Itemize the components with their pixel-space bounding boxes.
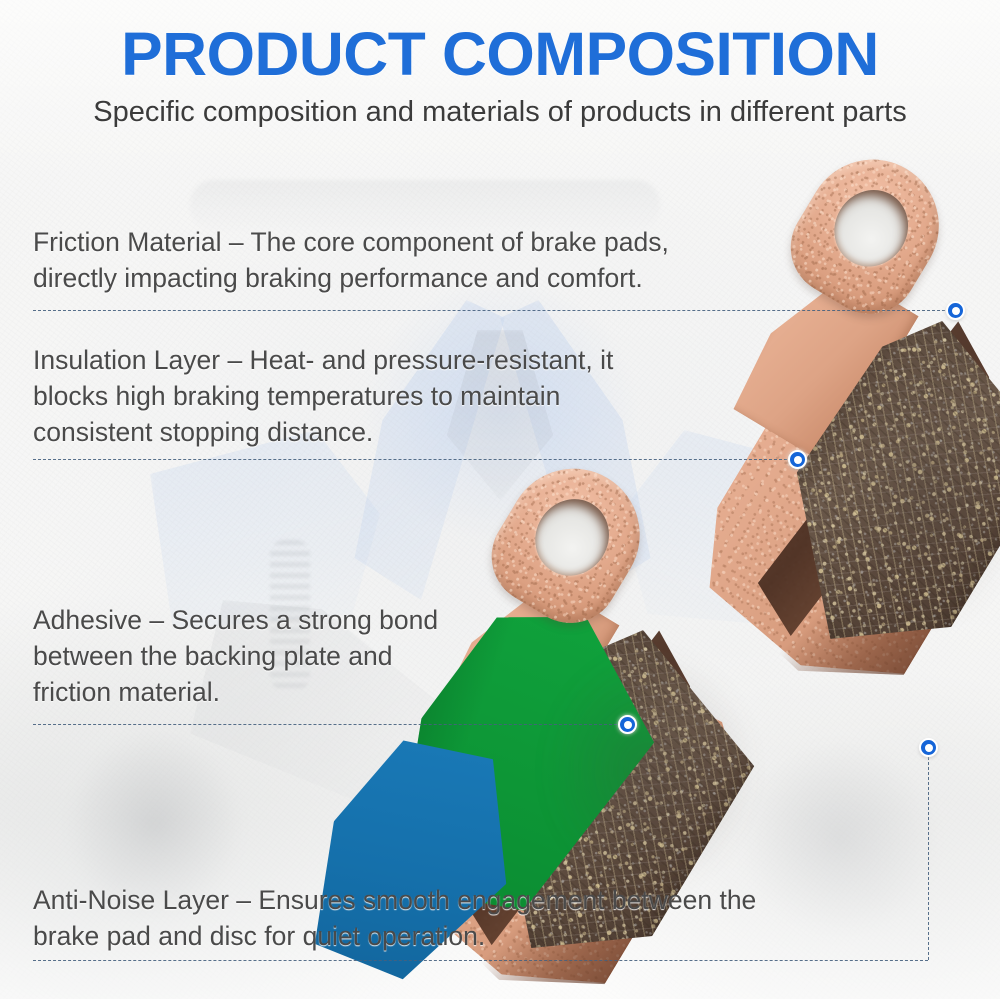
text-block-friction: Friction Material – The core component o… <box>33 224 669 296</box>
page-title: PRODUCT COMPOSITION <box>0 24 1000 85</box>
insulation-line-3: consistent stopping distance. <box>33 414 613 450</box>
marker-dot-friction[interactable] <box>946 301 965 320</box>
connector-line-adhesive <box>33 724 627 725</box>
marker-dot-insulation[interactable] <box>788 450 807 469</box>
friction-line-1: Friction Material – The core component o… <box>33 224 669 260</box>
text-block-adhesive: Adhesive – Secures a strong bond between… <box>33 602 438 710</box>
insulation-line-2: blocks high braking temperatures to main… <box>33 378 613 414</box>
page-subtitle: Specific composition and materials of pr… <box>0 97 1000 129</box>
product-image <box>0 0 1000 999</box>
infographic-canvas: PRODUCT COMPOSITION Specific composition… <box>0 0 1000 999</box>
connector-line-antinoise-vertical <box>928 747 929 960</box>
connector-line-insulation <box>33 459 797 460</box>
adhesive-line-1: Adhesive – Secures a strong bond <box>33 602 438 638</box>
text-block-insulation: Insulation Layer – Heat- and pressure-re… <box>33 342 613 450</box>
connector-line-antinoise <box>33 960 928 961</box>
antinoise-line-1: Anti-Noise Layer – Ensures smooth engage… <box>33 882 756 918</box>
connector-line-friction <box>33 310 955 311</box>
insulation-line-1: Insulation Layer – Heat- and pressure-re… <box>33 342 613 378</box>
marker-dot-adhesive[interactable] <box>618 715 637 734</box>
adhesive-line-3: friction material. <box>33 674 438 710</box>
adhesive-line-2: between the backing plate and <box>33 638 438 674</box>
friction-line-2: directly impacting braking performance a… <box>33 260 669 296</box>
antinoise-line-2: brake pad and disc for quiet operation. <box>33 918 756 954</box>
text-block-antinoise: Anti-Noise Layer – Ensures smooth engage… <box>33 882 756 954</box>
marker-dot-antinoise[interactable] <box>919 738 938 757</box>
header: PRODUCT COMPOSITION Specific composition… <box>0 24 1000 129</box>
